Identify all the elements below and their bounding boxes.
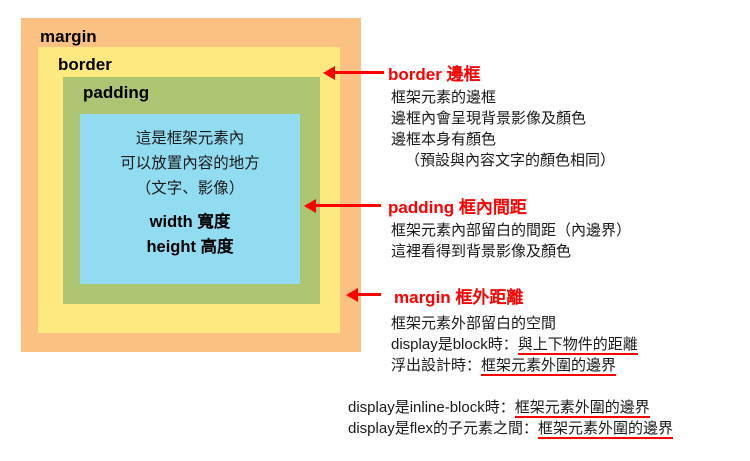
margin-extra-line-1-prefix: display是inline-block時： bbox=[348, 399, 515, 416]
border-annotation-line-4: （預設與內容文字的顏色相同） bbox=[391, 150, 615, 171]
padding-annotation-line-1: 框架元素內部留白的間距（內邊界） bbox=[391, 222, 631, 239]
margin-annotation-line-3-underlined: 框架元素外圍的邊界 bbox=[481, 357, 616, 376]
annotations-panel: border 邊框 框架元素的邊框 邊框內會呈現背景影像及顏色 邊框本身有顏色 … bbox=[0, 0, 750, 461]
margin-extra-line-1-underlined: 框架元素外圍的邊界 bbox=[515, 399, 650, 418]
border-annotation-heading: border 邊框 bbox=[388, 60, 481, 85]
margin-annotation-heading: margin 框外距離 bbox=[394, 283, 523, 308]
border-annotation-line-2: 邊框內會呈現背景影像及顏色 bbox=[391, 110, 586, 127]
margin-extra-line-2-underlined: 框架元素外圍的邊界 bbox=[538, 420, 673, 439]
margin-annotation-line-3-prefix: 浮出設計時： bbox=[391, 357, 481, 374]
box-model-diagram-page: margin border padding 這是框架元素內 可以放置內容的地方 … bbox=[0, 0, 750, 461]
border-annotation-line-1: 框架元素的邊框 bbox=[391, 89, 496, 106]
margin-annotation-line-1: 框架元素外部留白的空間 bbox=[391, 315, 556, 332]
border-annotation-body: 框架元素的邊框 邊框內會呈現背景影像及顏色 邊框本身有顏色 （預設與內容文字的顏… bbox=[391, 87, 615, 171]
padding-annotation-heading: padding 框內間距 bbox=[388, 193, 527, 218]
margin-extra-line-2-prefix: display是flex的子元素之間： bbox=[348, 420, 538, 437]
margin-annotation-line-2-prefix: display是block時： bbox=[391, 336, 518, 353]
margin-annotation-body: 框架元素外部留白的空間 display是block時：與上下物件的距離 浮出設計… bbox=[391, 313, 638, 376]
border-annotation-line-3: 邊框本身有顏色 bbox=[391, 131, 496, 148]
padding-annotation-line-2: 這裡看得到背景影像及顏色 bbox=[391, 243, 571, 260]
margin-extra-annotation-body: display是inline-block時：框架元素外圍的邊界 display是… bbox=[348, 397, 673, 439]
margin-annotation-line-2-underlined: 與上下物件的距離 bbox=[518, 336, 638, 355]
padding-annotation-body: 框架元素內部留白的間距（內邊界） 這裡看得到背景影像及顏色 bbox=[391, 220, 631, 262]
